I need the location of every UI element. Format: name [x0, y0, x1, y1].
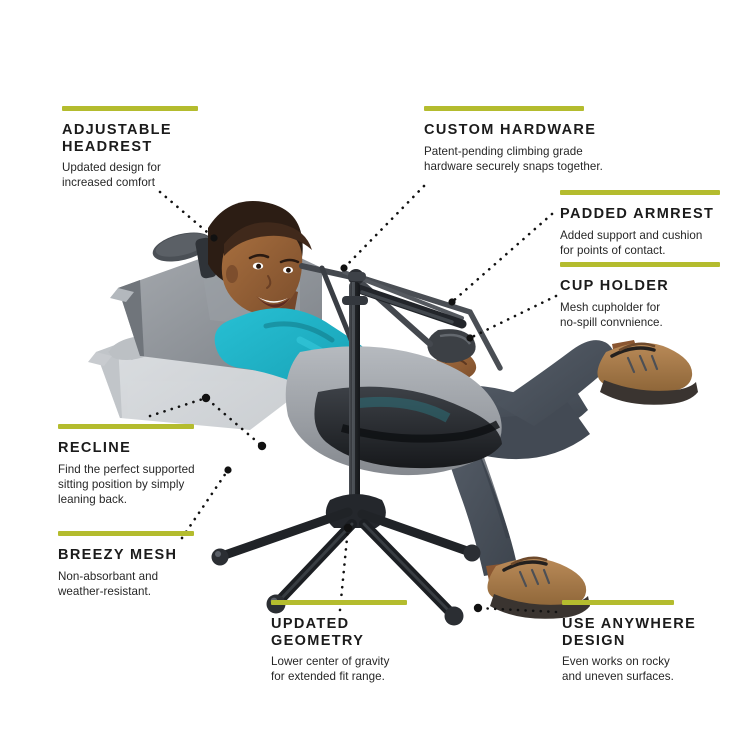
callout-custom-hardware: CUSTOM HARDWARE Patent-pending climbing …	[424, 106, 654, 174]
callout-body: Even works on rocky and uneven surfaces.	[562, 654, 742, 684]
infographic-canvas: ADJUSTABLE HEADREST Updated design for i…	[0, 0, 750, 750]
callout-body: Mesh cupholder for no-spill convnience.	[560, 300, 750, 330]
chair-mesh-backrest	[110, 227, 322, 372]
accent-bar	[424, 106, 584, 111]
chair-frame	[302, 266, 500, 528]
callout-adjustable-headrest: ADJUSTABLE HEADREST Updated design for i…	[62, 106, 242, 190]
callout-title: UPDATED GEOMETRY	[271, 616, 461, 649]
accent-bar	[62, 106, 198, 111]
leader-cup-holder	[470, 296, 556, 338]
callout-breezy-mesh: BREEZY MESH Non-absorbant and weather-re…	[58, 531, 248, 599]
callout-title: CUSTOM HARDWARE	[424, 122, 654, 139]
callout-body: Lower center of gravity for extended fit…	[271, 654, 461, 684]
leader-custom-hardware	[344, 186, 424, 268]
callout-body: Non-absorbant and weather-resistant.	[58, 569, 248, 599]
callout-body: Added support and cushion for points of …	[560, 228, 750, 258]
padded-armrest	[356, 288, 462, 324]
accent-bar	[58, 424, 194, 429]
callout-title: PADDED ARMREST	[560, 206, 750, 223]
callout-title: CUP HOLDER	[560, 278, 750, 295]
chair-seat-fabric	[286, 329, 502, 475]
accent-bar	[562, 600, 674, 605]
adjustable-headrest-pad	[150, 227, 218, 279]
leader-padded-armrest	[452, 214, 552, 302]
accent-bar	[560, 262, 720, 267]
callout-title: BREEZY MESH	[58, 547, 248, 564]
callout-title: ADJUSTABLE HEADREST	[62, 122, 242, 155]
callout-cup-holder: CUP HOLDER Mesh cupholder for no-spill c…	[560, 262, 750, 330]
custom-hardware-junction	[348, 269, 366, 285]
leader-updated-geometry	[340, 528, 348, 610]
hiking-shoe-raised	[597, 343, 698, 405]
accent-bar	[58, 531, 194, 536]
accent-bar	[560, 190, 720, 195]
callout-body: Updated design for increased comfort	[62, 160, 242, 190]
callout-title: RECLINE	[58, 440, 258, 457]
callout-use-anywhere-design: USE ANYWHERE DESIGN Even works on rocky …	[562, 600, 742, 684]
leader-use-anywhere	[478, 608, 556, 612]
callout-body: Find the perfect supported sitting posit…	[58, 462, 258, 508]
accent-bar	[271, 600, 407, 605]
callout-body: Patent-pending climbing grade hardware s…	[424, 144, 654, 174]
leader-adjustable-headrest	[160, 192, 214, 238]
callout-title: USE ANYWHERE DESIGN	[562, 616, 742, 649]
callout-updated-geometry: UPDATED GEOMETRY Lower center of gravity…	[271, 600, 461, 684]
callout-padded-armrest: PADDED ARMREST Added support and cushion…	[560, 190, 750, 258]
callout-recline: RECLINE Find the perfect supported sitti…	[58, 424, 258, 507]
ghost-recline-overlay	[88, 300, 300, 430]
mesh-cup-holder	[427, 329, 475, 363]
